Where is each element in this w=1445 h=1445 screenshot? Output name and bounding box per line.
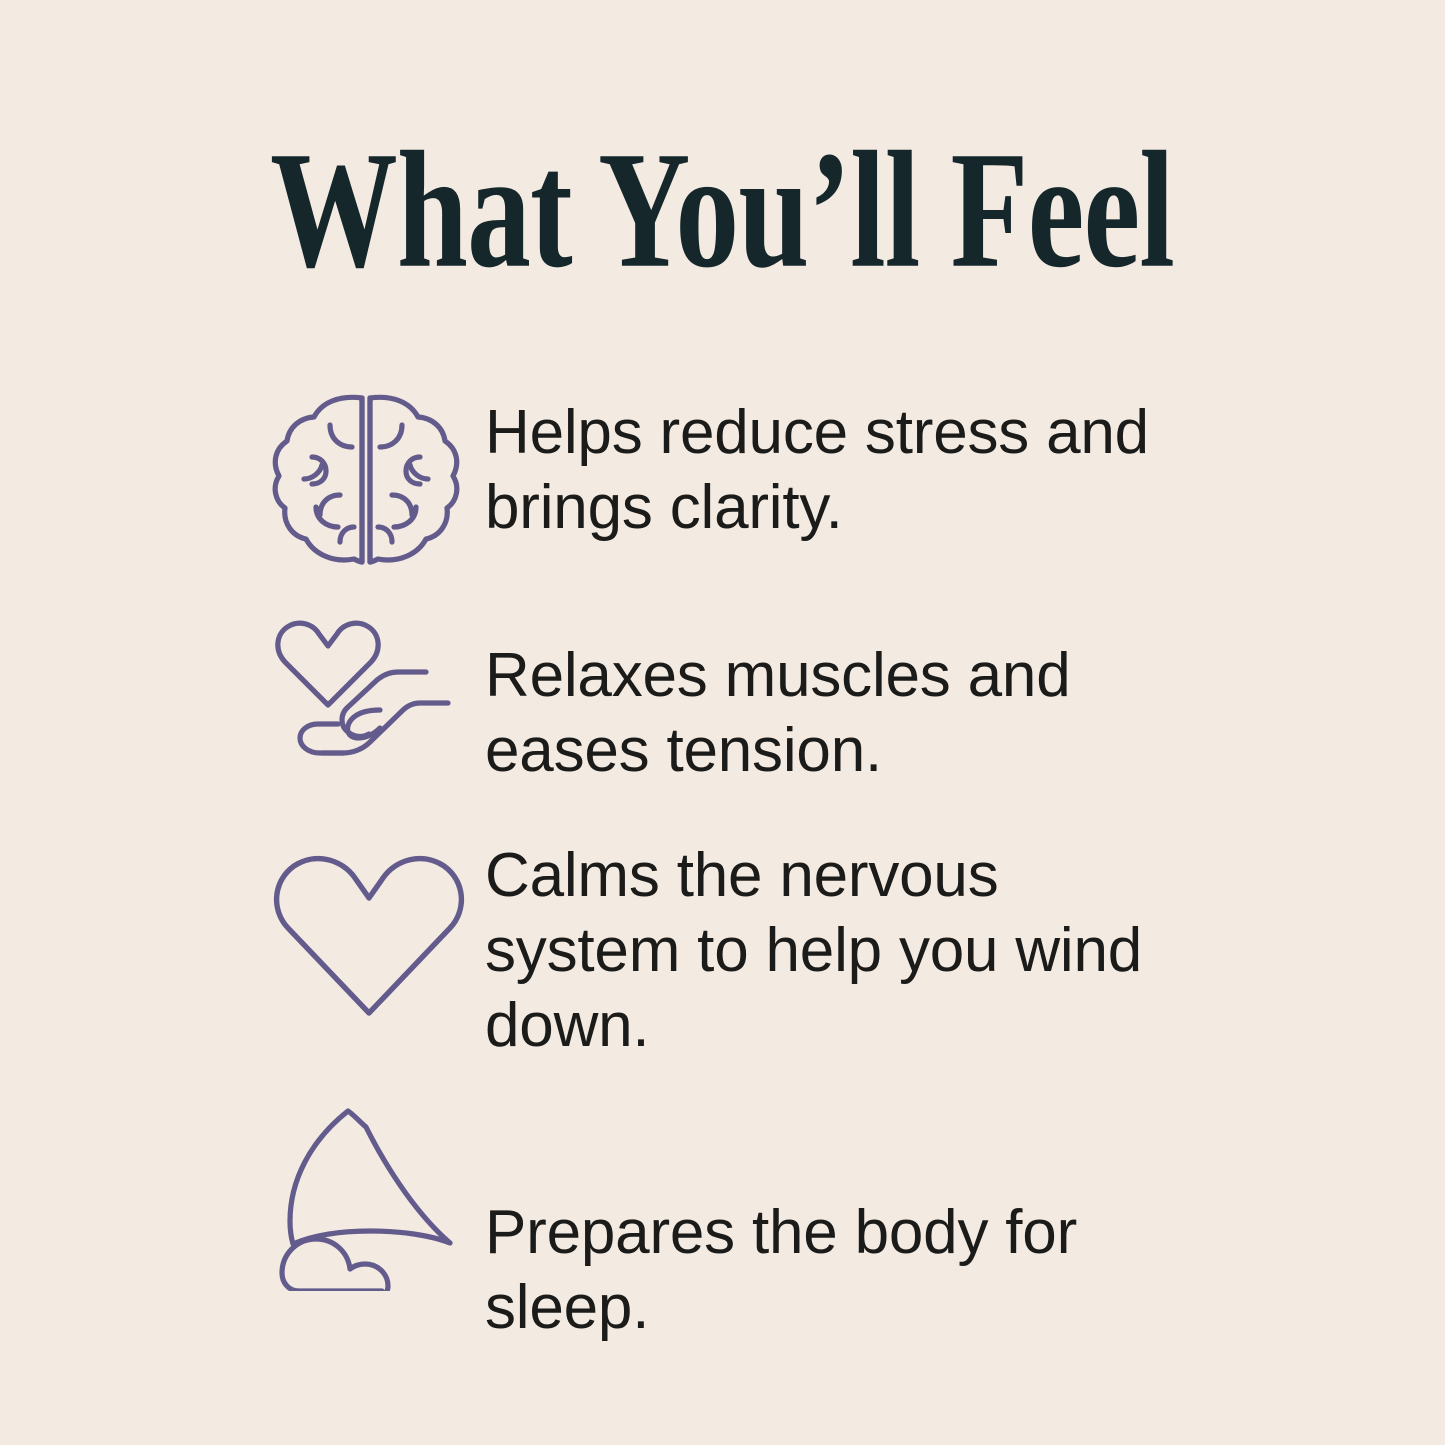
feature-text-muscles: Relaxes muscles and eases tension. (485, 600, 1175, 788)
crescent-moon-cloud-icon (270, 1105, 485, 1291)
what-youll-feel-card: What You’ll Feel (0, 0, 1445, 1445)
feature-text-nervous-system: Calms the nervous system to help you win… (485, 830, 1175, 1063)
feature-item-stress: Helps reduce stress and brings clarity. (270, 365, 1270, 569)
feature-item-nervous-system: Calms the nervous system to help you win… (270, 830, 1270, 1063)
heart-in-hand-icon (270, 600, 485, 768)
feature-text-stress: Helps reduce stress and brings clarity. (485, 365, 1175, 545)
brain-icon (270, 365, 485, 569)
page-title: What You’ll Feel (271, 126, 1175, 293)
feature-item-sleep: Prepares the body for sleep. (270, 1105, 1270, 1345)
feature-text-sleep: Prepares the body for sleep. (485, 1105, 1175, 1345)
page-title-container: What You’ll Feel (0, 126, 1445, 278)
heart-outline-icon (270, 830, 485, 1020)
feature-item-muscles: Relaxes muscles and eases tension. (270, 600, 1270, 788)
